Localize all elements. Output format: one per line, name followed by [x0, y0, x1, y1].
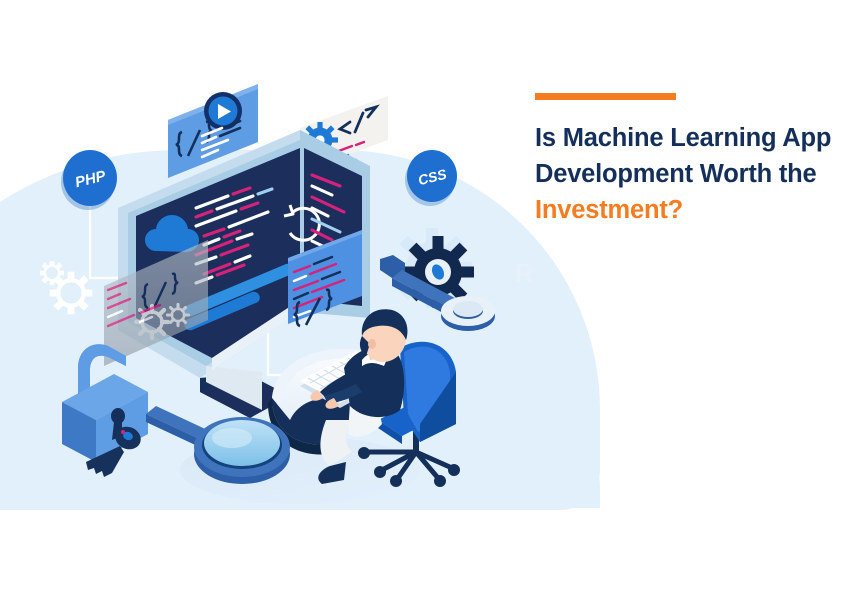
outline-gear-icon-group — [40, 261, 92, 314]
illustration: PHP CSS — [0, 0, 640, 560]
watermark: R — [515, 258, 535, 289]
magnifying-glass — [146, 406, 290, 484]
page-title: Is Machine Learning App Development Wort… — [535, 120, 835, 229]
headline-line-2: Development Worth the — [535, 160, 817, 188]
badge-php: PHP — [61, 150, 117, 210]
accent-bar — [535, 93, 676, 100]
headline-block: Is Machine Learning App Development Wort… — [535, 93, 835, 229]
hero-banner: PHP CSS — [0, 0, 847, 605]
badge-css: CSS — [405, 150, 457, 206]
play-icon — [204, 92, 242, 130]
headline-line-1: Is Machine Learning App — [535, 124, 831, 152]
headline-line-3-accent: Investment? — [535, 196, 683, 224]
